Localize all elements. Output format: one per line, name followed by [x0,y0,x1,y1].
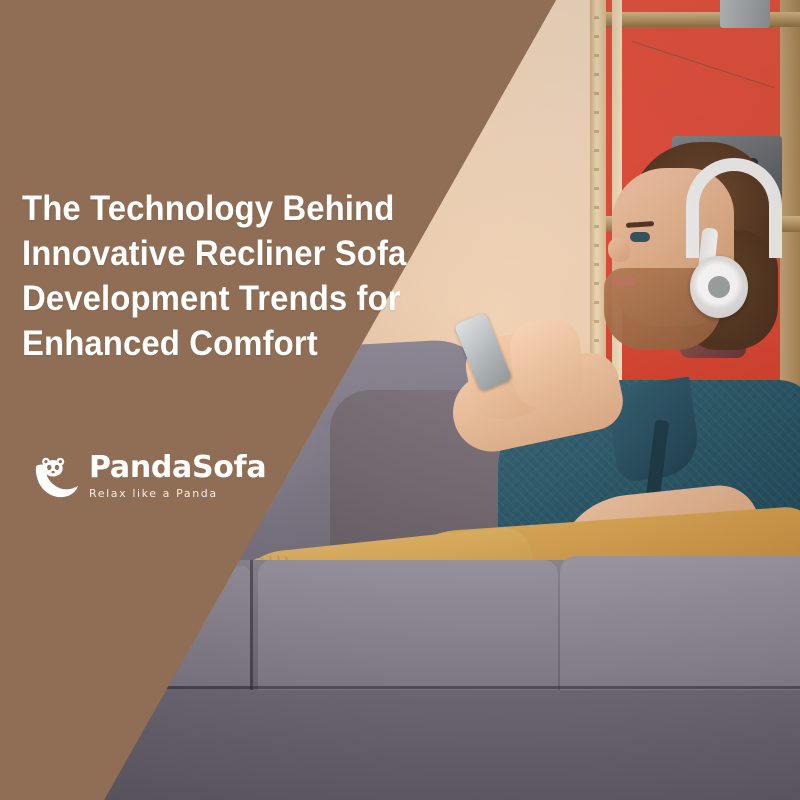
sofa-seat-cushion-right [560,556,800,692]
headline-line-3: Development Trends for [22,276,351,321]
page-title: The Technology Behind Innovative Recline… [22,186,351,366]
headline-line-4: Enhanced Comfort [22,321,351,366]
sofa-seam-a [250,560,253,690]
person-hand-right [508,317,587,412]
blog-banner: The Technology Behind Innovative Recline… [0,0,800,800]
person-lips [612,278,636,285]
headline-line-2: Innovative Recliner Sofa [22,231,351,276]
brand-name: PandaSofa [89,453,266,483]
metal-tin [720,0,770,28]
headline-line-1: The Technology Behind [22,186,351,231]
person-nose [608,238,630,262]
person-eye [630,232,650,242]
brand-logo[interactable]: PandaSofa Relax like a Panda [32,452,266,500]
headphones-earcup [690,256,748,318]
sofa-seat-cushion-center [258,560,558,690]
brand-text: PandaSofa Relax like a Panda [89,453,266,499]
shelf-board-top [600,12,800,27]
brand-tagline: Relax like a Panda [89,488,266,499]
panda-in-crescent-icon [32,452,80,500]
